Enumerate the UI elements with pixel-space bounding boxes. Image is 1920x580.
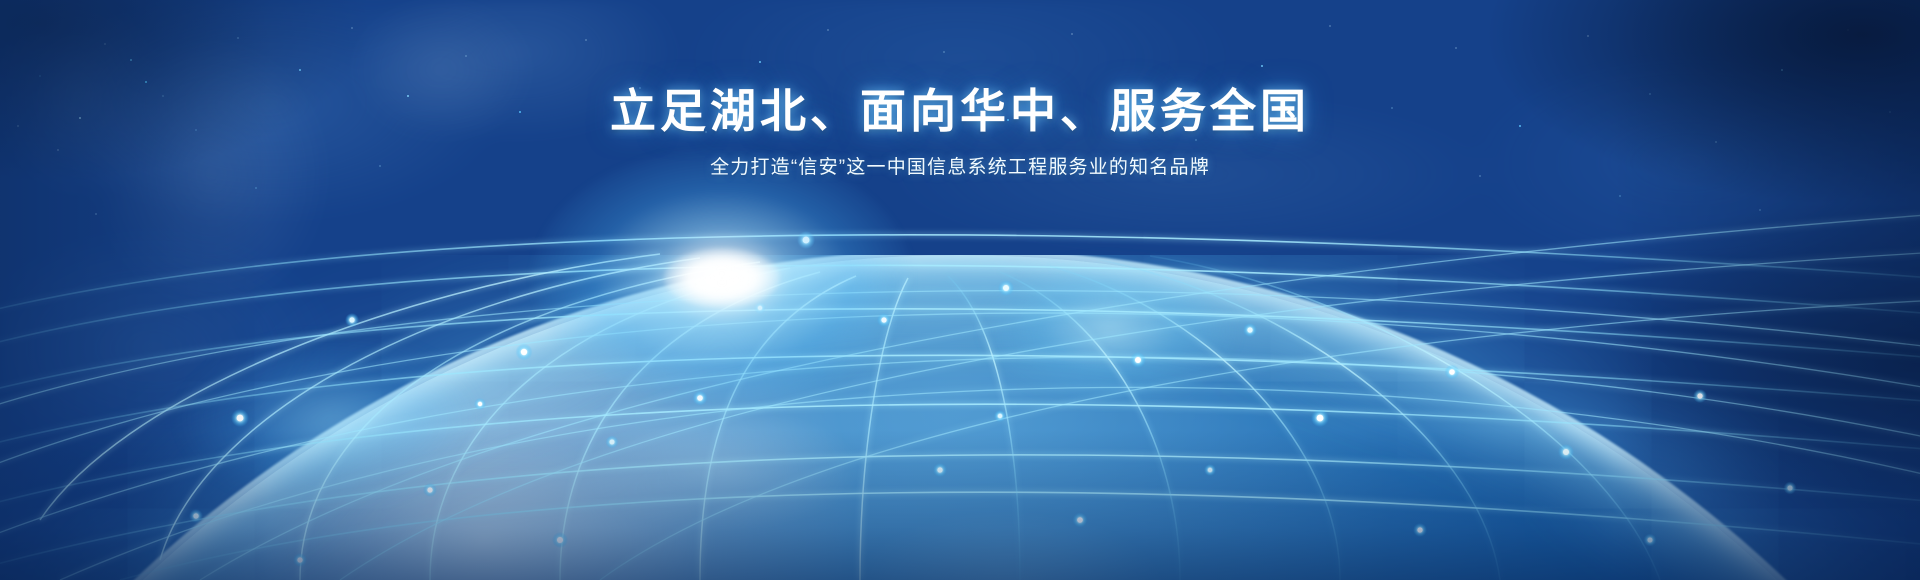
banner-copy: 立足湖北、面向华中、服务全国 全力打造“信安”这一中国信息系统工程服务业的知名品… [0, 84, 1920, 183]
glow-bloom-right [980, 255, 1240, 405]
banner-subheadline: 全力打造“信安”这一中国信息系统工程服务业的知名品牌 [0, 154, 1920, 183]
hero-banner: 立足湖北、面向华中、服务全国 全力打造“信安”这一中国信息系统工程服务业的知名品… [0, 0, 1920, 580]
banner-headline: 立足湖北、面向华中、服务全国 [0, 84, 1920, 138]
glow-bloom-left [180, 335, 480, 505]
